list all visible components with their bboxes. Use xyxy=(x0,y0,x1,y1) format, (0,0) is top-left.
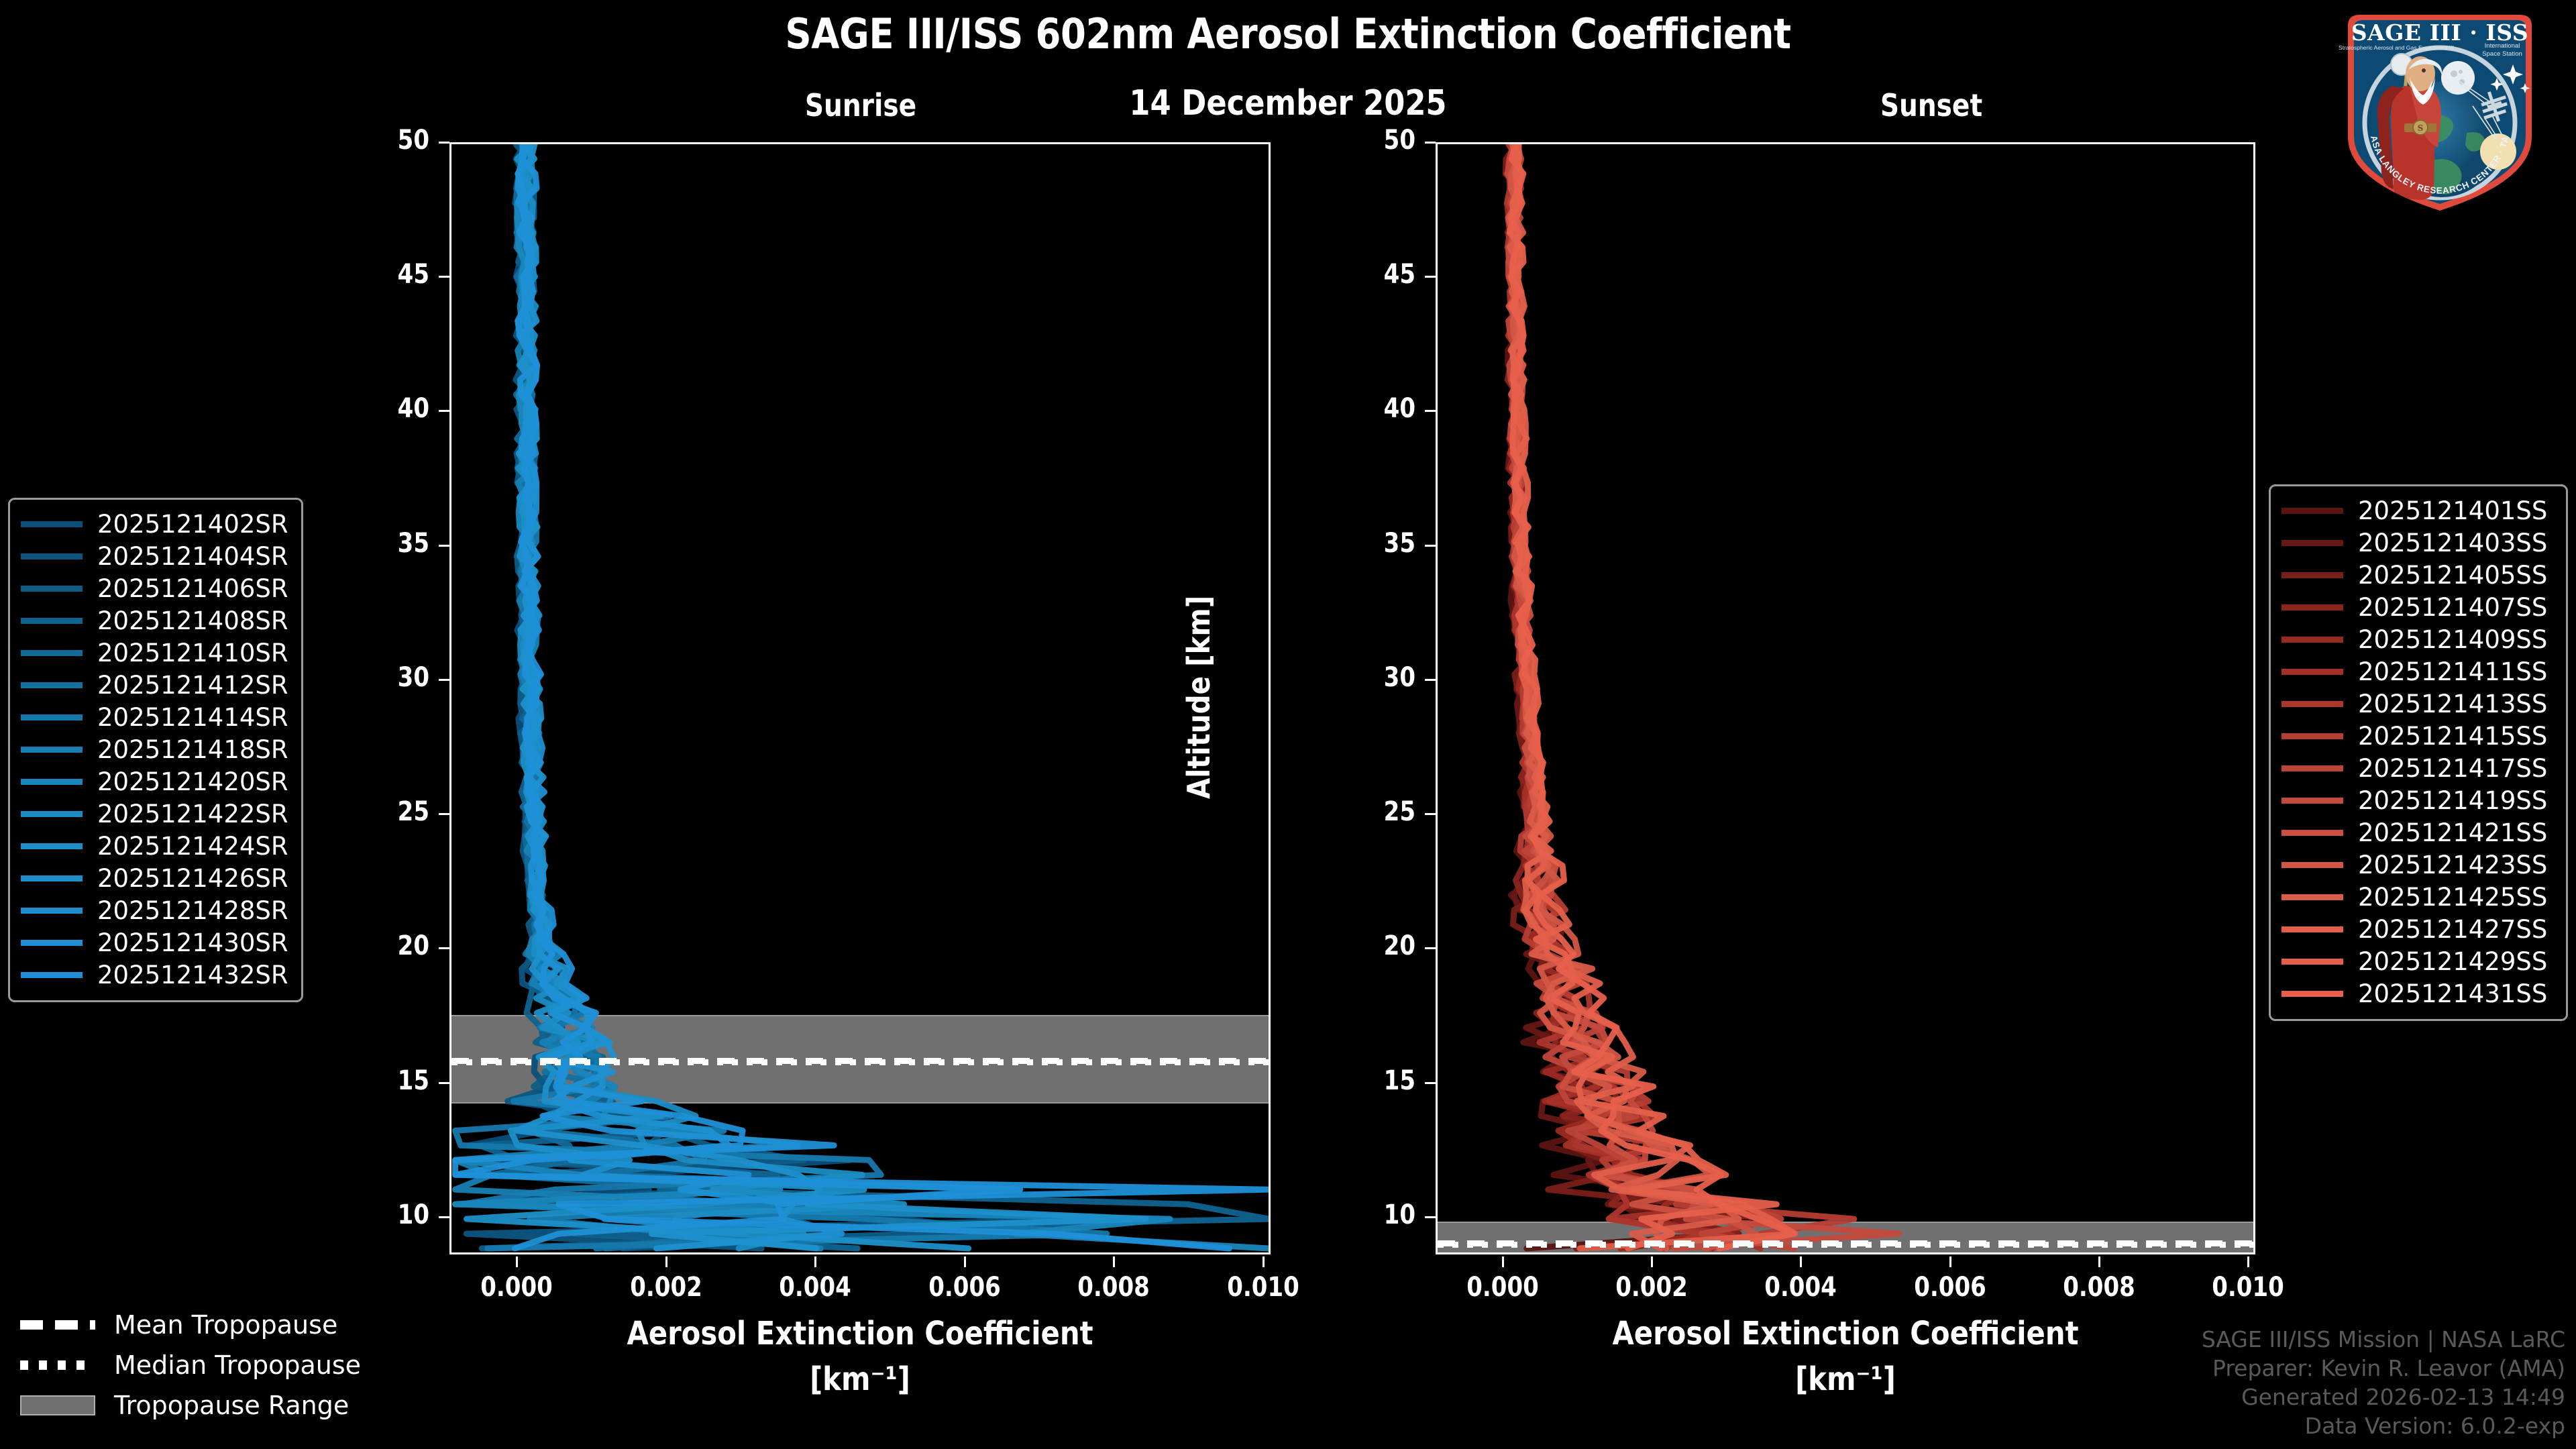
plot-area-sunset xyxy=(1436,142,2255,1254)
plot-area-sunrise xyxy=(449,142,1271,1254)
ytick-label-10: 10 xyxy=(1330,1199,1416,1230)
legend-label-sunrise-13: 2025121430SR xyxy=(97,928,288,957)
legend-row-sunrise-0[interactable]: 2025121402SR xyxy=(21,508,290,540)
ytick-mark-50 xyxy=(1425,142,1436,144)
legend-row-sunset-14[interactable]: 2025121429SS xyxy=(2282,945,2555,977)
ytick-label-50: 50 xyxy=(1330,125,1416,156)
legend-label-sunset-11: 2025121423SS xyxy=(2358,851,2547,879)
legend-row-sunset-12[interactable]: 2025121425SS xyxy=(2282,881,2555,913)
legend-label-sunset-1: 2025121403SS xyxy=(2358,529,2547,557)
ytick-label-45: 45 xyxy=(1330,259,1416,290)
ytick-mark-40 xyxy=(1425,410,1436,412)
ytick-mark-45 xyxy=(1425,276,1436,278)
xtick-mark-0_004 xyxy=(1800,1256,1802,1267)
legend-row-sunset-7[interactable]: 2025121415SS xyxy=(2282,720,2555,752)
legend-swatch-sunrise-12 xyxy=(21,908,83,914)
legend-label-sunset-0: 2025121401SS xyxy=(2358,496,2547,525)
legend-label-sunrise-12: 2025121428SR xyxy=(97,896,288,925)
legend-row-sunset-4[interactable]: 2025121409SS xyxy=(2282,623,2555,655)
xtick-mark-0_006 xyxy=(964,1256,966,1267)
legend-swatch-sunrise-2 xyxy=(21,586,83,592)
legend-row-sunrise-11[interactable]: 2025121426SR xyxy=(21,862,290,894)
ytick-mark-15 xyxy=(1425,1082,1436,1084)
xtick-label-0_000: 0.000 xyxy=(460,1272,574,1303)
xtick-mark-0_006 xyxy=(1949,1256,1951,1267)
legend-swatch-sunset-13 xyxy=(2282,926,2343,932)
legend-label-sunrise-7: 2025121418SR xyxy=(97,735,288,764)
legend-swatch-sunset-8 xyxy=(2282,765,2343,771)
legend-row-sunset-5[interactable]: 2025121411SS xyxy=(2282,655,2555,688)
legend-row-sunrise-3[interactable]: 2025121408SR xyxy=(21,604,290,637)
legend-label-sunset-10: 2025121421SS xyxy=(2358,818,2547,847)
xtick-mark-0_008 xyxy=(1113,1256,1115,1267)
xtick-label-0_006: 0.006 xyxy=(1893,1272,2007,1303)
xtick-label-0_000: 0.000 xyxy=(1446,1272,1560,1303)
legend-swatch-sunset-1 xyxy=(2282,540,2343,546)
legend-row-sunrise-7[interactable]: 2025121418SR xyxy=(21,733,290,765)
legend-swatch-sunrise-7 xyxy=(21,747,83,753)
legend-label-sunrise-10: 2025121424SR xyxy=(97,832,288,861)
ytick-label-45: 45 xyxy=(344,259,430,290)
patch-subtitle-right-2: Space Station xyxy=(2482,50,2522,58)
xtick-label-0_004: 0.004 xyxy=(758,1272,872,1303)
xtick-label-0_010: 0.010 xyxy=(1206,1272,1320,1303)
ytick-label-25: 25 xyxy=(344,796,430,827)
legend-swatch-sunset-3 xyxy=(2282,604,2343,610)
xtick-label-0_002: 0.002 xyxy=(1595,1272,1709,1303)
xtick-label-0_006: 0.006 xyxy=(908,1272,1022,1303)
legend-row-median-tropopause: Median Tropopause xyxy=(20,1345,361,1385)
ytick-label-10: 10 xyxy=(344,1199,430,1230)
credits-line-preparer: Preparer: Kevin R. Leavor (AMA) xyxy=(2202,1354,2565,1383)
ytick-mark-25 xyxy=(1425,813,1436,815)
ytick-mark-20 xyxy=(1425,947,1436,949)
legend-label-sunset-3: 2025121407SS xyxy=(2358,593,2547,622)
legend-tropopause: Mean Tropopause Median Tropopause Tropop… xyxy=(20,1305,361,1426)
median-tropopause-line xyxy=(1438,1242,2253,1248)
patch-subtitle-right-1: International xyxy=(2485,42,2520,50)
legend-label-sunrise-8: 2025121420SR xyxy=(97,767,288,796)
legend-row-sunrise-13[interactable]: 2025121430SR xyxy=(21,926,290,959)
axis-unit-extinction-sunrise: [km⁻¹] xyxy=(598,1360,1123,1398)
legend-swatch-sunset-10 xyxy=(2282,830,2343,836)
axis-label-extinction-sunset: Aerosol Extinction Coefficient xyxy=(1583,1315,2108,1352)
xtick-label-0_002: 0.002 xyxy=(609,1272,723,1303)
legend-swatch-sunrise-11 xyxy=(21,875,83,881)
legend-row-sunset-9[interactable]: 2025121419SS xyxy=(2282,784,2555,816)
legend-row-sunrise-5[interactable]: 2025121412SR xyxy=(21,669,290,701)
legend-row-sunrise-4[interactable]: 2025121410SR xyxy=(21,637,290,669)
legend-row-sunrise-14[interactable]: 2025121432SR xyxy=(21,959,290,991)
ytick-mark-40 xyxy=(439,410,449,412)
legend-row-sunrise-9[interactable]: 2025121422SR xyxy=(21,798,290,830)
legend-row-sunset-15[interactable]: 2025121431SS xyxy=(2282,977,2555,1010)
ytick-label-40: 40 xyxy=(344,393,430,424)
legend-label-mean-tropopause: Mean Tropopause xyxy=(114,1310,337,1340)
legend-label-sunset-2: 2025121405SS xyxy=(2358,561,2547,590)
ytick-mark-35 xyxy=(1425,545,1436,547)
ytick-mark-45 xyxy=(439,276,449,278)
legend-row-sunset-10[interactable]: 2025121421SS xyxy=(2282,816,2555,849)
credits-block: SAGE III/ISS Mission | NASA LaRC Prepare… xyxy=(2202,1326,2565,1441)
legend-swatch-sunset-9 xyxy=(2282,798,2343,804)
svg-text:S: S xyxy=(2418,123,2424,133)
legend-swatch-sunrise-9 xyxy=(21,811,83,817)
ytick-mark-20 xyxy=(439,947,449,949)
legend-label-sunset-9: 2025121419SS xyxy=(2358,786,2547,815)
legend-swatch-sunrise-0 xyxy=(21,521,83,527)
axis-unit-extinction-sunset: [km⁻¹] xyxy=(1583,1360,2108,1398)
legend-label-median-tropopause: Median Tropopause xyxy=(114,1350,361,1380)
xtick-label-0_008: 0.008 xyxy=(1057,1272,1171,1303)
legend-swatch-sunrise-1 xyxy=(21,553,83,559)
legend-swatch-sunset-6 xyxy=(2282,701,2343,707)
panel-title-sunrise: Sunrise xyxy=(747,87,975,123)
legend-swatch-sunset-2 xyxy=(2282,572,2343,578)
band-swatch-icon xyxy=(20,1395,95,1415)
xtick-mark-0_004 xyxy=(814,1256,816,1267)
ytick-mark-25 xyxy=(439,813,449,815)
ytick-mark-50 xyxy=(439,142,449,144)
ytick-label-35: 35 xyxy=(344,528,430,559)
legend-swatch-sunset-0 xyxy=(2282,508,2343,514)
legend-row-sunset-2[interactable]: 2025121405SS xyxy=(2282,559,2555,591)
legend-label-sunrise-14: 2025121432SR xyxy=(97,961,288,989)
legend-label-sunset-12: 2025121425SS xyxy=(2358,883,2547,912)
credits-line-generated: Generated 2026-02-13 14:49 xyxy=(2202,1383,2565,1412)
xtick-mark-0_010 xyxy=(2247,1256,2249,1267)
legend-row-tropopause-range: Tropopause Range xyxy=(20,1385,361,1426)
page-title: SAGE III/ISS 602nm Aerosol Extinction Co… xyxy=(154,9,2421,58)
legend-row-sunrise-2[interactable]: 2025121406SR xyxy=(21,572,290,604)
xtick-label-0_004: 0.004 xyxy=(1743,1272,1858,1303)
legend-swatch-sunrise-3 xyxy=(21,618,83,624)
legend-label-sunset-5: 2025121411SS xyxy=(2358,657,2547,686)
legend-sunrise[interactable]: 2025121402SR2025121404SR2025121406SR2025… xyxy=(8,498,303,1002)
xtick-mark-0_010 xyxy=(1263,1256,1265,1267)
legend-label-sunrise-4: 2025121410SR xyxy=(97,639,288,667)
legend-label-sunset-6: 2025121413SS xyxy=(2358,690,2547,718)
ytick-label-20: 20 xyxy=(344,930,430,961)
ytick-label-40: 40 xyxy=(1330,393,1416,424)
median-tropopause-line xyxy=(451,1059,1269,1065)
xtick-mark-0_002 xyxy=(665,1256,667,1267)
legend-swatch-sunrise-13 xyxy=(21,940,83,946)
ytick-mark-15 xyxy=(439,1082,449,1084)
legend-label-sunrise-11: 2025121426SR xyxy=(97,864,288,893)
ytick-mark-10 xyxy=(439,1216,449,1218)
legend-swatch-sunrise-14 xyxy=(21,972,83,978)
legend-row-mean-tropopause: Mean Tropopause xyxy=(20,1305,361,1345)
panel-title-sunset: Sunset xyxy=(1817,87,2045,123)
legend-row-sunset-13[interactable]: 2025121427SS xyxy=(2282,913,2555,945)
xtick-mark-0_002 xyxy=(1651,1256,1653,1267)
ytick-mark-10 xyxy=(1425,1216,1436,1218)
legend-row-sunset-8[interactable]: 2025121417SS xyxy=(2282,752,2555,784)
ytick-label-25: 25 xyxy=(1330,796,1416,827)
legend-swatch-sunset-12 xyxy=(2282,894,2343,900)
legend-swatch-sunset-11 xyxy=(2282,862,2343,868)
legend-label-sunrise-3: 2025121408SR xyxy=(97,606,288,635)
xtick-mark-0_008 xyxy=(2098,1256,2100,1267)
legend-label-sunset-8: 2025121417SS xyxy=(2358,754,2547,783)
legend-swatch-sunrise-8 xyxy=(21,779,83,785)
legend-label-sunset-7: 2025121415SS xyxy=(2358,722,2547,751)
legend-swatch-sunset-7 xyxy=(2282,733,2343,739)
legend-row-sunrise-8[interactable]: 2025121420SR xyxy=(21,765,290,798)
legend-swatch-sunset-14 xyxy=(2282,959,2343,965)
legend-swatch-sunrise-6 xyxy=(21,714,83,720)
legend-swatch-sunrise-5 xyxy=(21,682,83,688)
legend-swatch-sunset-4 xyxy=(2282,637,2343,643)
extinction-profile-curves xyxy=(451,144,1269,1252)
legend-row-sunrise-6[interactable]: 2025121414SR xyxy=(21,701,290,733)
legend-label-sunrise-5: 2025121412SR xyxy=(97,671,288,700)
patch-subtitle-left: Stratospheric Aerosol and Gas Experiment… xyxy=(2339,44,2454,51)
xtick-label-0_008: 0.008 xyxy=(2042,1272,2156,1303)
axis-label-altitude-sunset: Altitude [km] xyxy=(1181,596,1217,799)
legend-swatch-sunset-15 xyxy=(2282,991,2343,997)
ytick-label-15: 15 xyxy=(344,1065,430,1096)
legend-row-sunset-11[interactable]: 2025121423SS xyxy=(2282,849,2555,881)
legend-row-sunrise-10[interactable]: 2025121424SR xyxy=(21,830,290,862)
legend-label-sunrise-9: 2025121422SR xyxy=(97,800,288,828)
ytick-label-35: 35 xyxy=(1330,528,1416,559)
ytick-label-50: 50 xyxy=(344,125,430,156)
legend-label-sunrise-2: 2025121406SR xyxy=(97,574,288,603)
legend-sunset[interactable]: 2025121401SS2025121403SS2025121405SS2025… xyxy=(2269,484,2568,1021)
extinction-profile-curves xyxy=(1438,144,2253,1252)
legend-swatch-sunrise-4 xyxy=(21,650,83,656)
ytick-label-30: 30 xyxy=(1330,662,1416,693)
legend-label-sunset-13: 2025121427SS xyxy=(2358,915,2547,944)
ytick-label-15: 15 xyxy=(1330,1065,1416,1096)
legend-label-sunrise-1: 2025121404SR xyxy=(97,542,288,571)
credits-line-mission: SAGE III/ISS Mission | NASA LaRC xyxy=(2202,1326,2565,1354)
xtick-mark-0_000 xyxy=(1502,1256,1504,1267)
ytick-label-20: 20 xyxy=(1330,930,1416,961)
legend-label-sunset-4: 2025121409SS xyxy=(2358,625,2547,654)
legend-row-sunset-3[interactable]: 2025121407SS xyxy=(2282,591,2555,623)
xtick-label-0_010: 0.010 xyxy=(2191,1272,2305,1303)
credits-line-data-version: Data Version: 6.0.2-exp xyxy=(2202,1412,2565,1441)
legend-swatch-sunset-5 xyxy=(2282,669,2343,675)
dashed-line-icon xyxy=(20,1320,95,1330)
legend-label-sunrise-6: 2025121414SR xyxy=(97,703,288,732)
xtick-mark-0_000 xyxy=(516,1256,518,1267)
ytick-mark-30 xyxy=(1425,679,1436,681)
legend-label-sunset-15: 2025121431SS xyxy=(2358,979,2547,1008)
date-subtitle: 14 December 2025 xyxy=(180,83,2396,123)
legend-row-sunset-0[interactable]: 2025121401SS xyxy=(2282,494,2555,527)
ytick-label-30: 30 xyxy=(344,662,430,693)
ytick-mark-35 xyxy=(439,545,449,547)
legend-label-tropopause-range: Tropopause Range xyxy=(114,1391,349,1420)
legend-row-sunset-6[interactable]: 2025121413SS xyxy=(2282,688,2555,720)
legend-label-sunrise-0: 2025121402SR xyxy=(97,510,288,539)
sage-iii-iss-mission-patch-logo: S SAGE III · ISS Stratospheric Aerosol a… xyxy=(2329,5,2551,219)
legend-row-sunrise-12[interactable]: 2025121428SR xyxy=(21,894,290,926)
dotted-line-icon xyxy=(20,1360,95,1370)
axis-label-extinction-sunrise: Aerosol Extinction Coefficient xyxy=(598,1315,1123,1352)
legend-swatch-sunrise-10 xyxy=(21,843,83,849)
legend-label-sunset-14: 2025121429SS xyxy=(2358,947,2547,976)
legend-row-sunrise-1[interactable]: 2025121404SR xyxy=(21,540,290,572)
ytick-mark-30 xyxy=(439,679,449,681)
legend-row-sunset-1[interactable]: 2025121403SS xyxy=(2282,527,2555,559)
